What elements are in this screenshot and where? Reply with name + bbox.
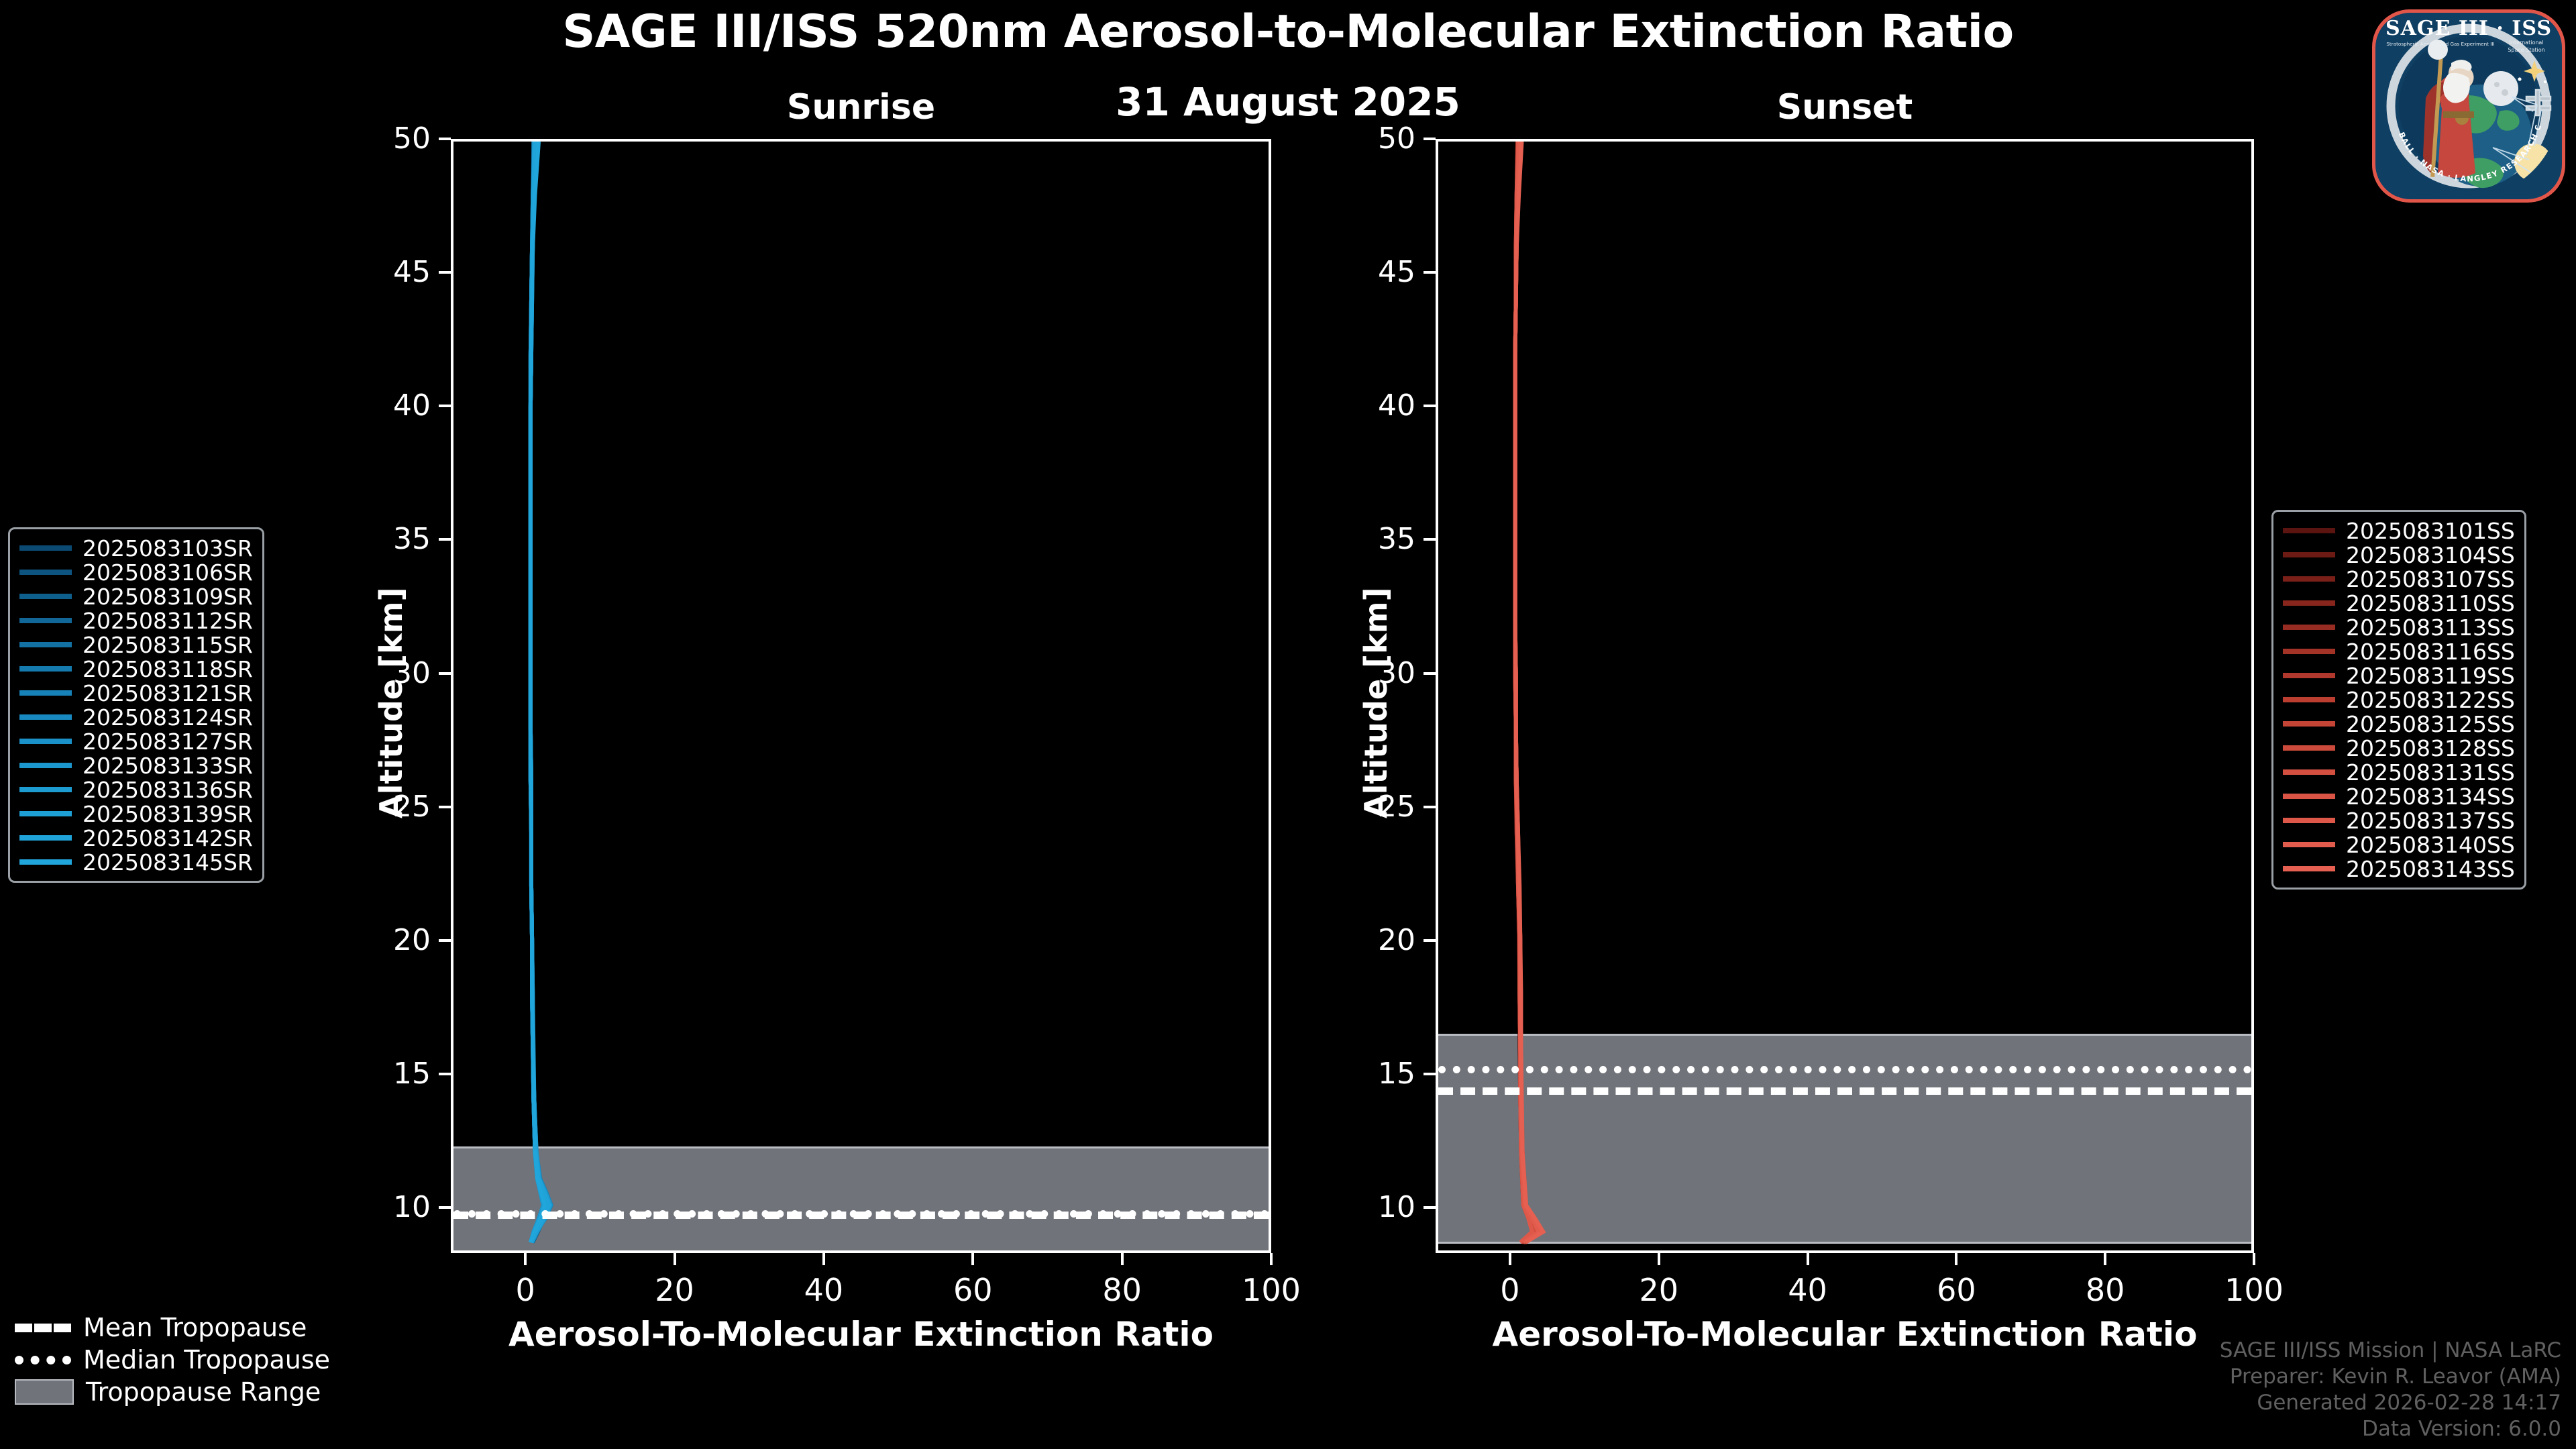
mean-tropopause-line — [1438, 1087, 2251, 1095]
legend-color-swatch — [2283, 697, 2335, 702]
footer-line-generated: Generated 2026-02-28 14:17 — [2220, 1390, 2561, 1416]
sunrise-plot-area[interactable] — [451, 139, 1271, 1253]
y-tick-label: 20 — [393, 926, 431, 955]
x-tick-mark — [1121, 1253, 1124, 1265]
sunrise-y-axis-label: Altitude [km] — [373, 587, 409, 818]
legend-item-label: 2025083127SR — [83, 729, 253, 755]
page-title: SAGE III/ISS 520nm Aerosol-to-Molecular … — [0, 5, 2576, 58]
legend-color-swatch — [2283, 576, 2335, 582]
legend-item[interactable]: 2025083133SR — [19, 753, 253, 777]
y-tick-mark — [1424, 672, 1436, 675]
legend-item[interactable]: 2025083118SR — [19, 657, 253, 681]
tropopause-legend[interactable]: Mean TropopauseMedian TropopauseTropopau… — [15, 1311, 330, 1408]
legend-color-swatch — [19, 594, 72, 599]
legend-item[interactable]: 2025083137SS — [2283, 808, 2515, 833]
x-tick-label: 0 — [516, 1272, 535, 1308]
legend-color-swatch — [19, 570, 72, 575]
legend-color-swatch — [19, 763, 72, 768]
y-tick-mark — [1424, 1073, 1436, 1075]
legend-item[interactable]: 2025083109SR — [19, 584, 253, 608]
legend-item[interactable]: 2025083119SS — [2283, 663, 2515, 688]
legend-item[interactable]: 2025083131SS — [2283, 760, 2515, 784]
legend-item[interactable]: 2025083145SR — [19, 850, 253, 874]
legend-color-swatch — [2283, 866, 2335, 871]
legend-item-label: 2025083134SS — [2346, 784, 2515, 810]
dashed-line-swatch — [15, 1324, 71, 1332]
legend-item-label: 2025083128SS — [2346, 735, 2515, 761]
svg-text:SAGE III · ISS: SAGE III · ISS — [2385, 17, 2552, 40]
legend-item[interactable]: 2025083110SS — [2283, 591, 2515, 615]
x-tick-mark — [1270, 1253, 1273, 1265]
legend-item[interactable]: 2025083127SR — [19, 729, 253, 753]
x-tick-label: 40 — [1788, 1272, 1827, 1308]
legend-color-swatch — [19, 690, 72, 696]
legend-item-label: 2025083109SR — [83, 584, 253, 610]
sunrise-x-axis-label: Aerosol-To-Molecular Extinction Ratio — [451, 1315, 1271, 1354]
legend-color-swatch — [2283, 818, 2335, 823]
legend-item-label: 2025083133SR — [83, 753, 253, 779]
legend-item[interactable]: 2025083122SS — [2283, 688, 2515, 712]
legend-color-swatch — [2283, 600, 2335, 606]
series-line — [531, 142, 545, 1242]
tropopause-legend-item[interactable]: Mean Tropopause — [15, 1311, 330, 1344]
legend-item[interactable]: 2025083128SS — [2283, 736, 2515, 760]
series-lines — [453, 142, 1269, 1250]
y-tick-label: 10 — [1378, 1193, 1415, 1222]
x-tick-label: 20 — [655, 1272, 694, 1308]
x-tick-mark — [1955, 1253, 1957, 1265]
legend-item-label: 2025083118SR — [83, 656, 253, 682]
legend-item-label: 2025083103SR — [83, 535, 253, 561]
legend-item[interactable]: 2025083125SS — [2283, 712, 2515, 736]
legend-item-label: 2025083104SS — [2346, 542, 2515, 568]
legend-item[interactable]: 2025083113SS — [2283, 615, 2515, 639]
tropopause-legend-item[interactable]: Median Tropopause — [15, 1344, 330, 1376]
legend-item[interactable]: 2025083112SR — [19, 608, 253, 633]
y-tick-mark — [1424, 405, 1436, 407]
x-tick-mark — [2104, 1253, 2106, 1265]
legend-color-swatch — [2283, 769, 2335, 775]
legend-color-swatch — [19, 545, 72, 551]
legend-item-label: 2025083121SR — [83, 680, 253, 706]
sunrise-panel-title: Sunrise — [451, 87, 1271, 127]
legend-color-swatch — [19, 666, 72, 672]
x-tick-label: 80 — [1102, 1272, 1142, 1308]
legend-color-swatch — [2283, 842, 2335, 847]
tropopause-legend-label: Tropopause Range — [86, 1377, 321, 1407]
legend-item-label: 2025083122SS — [2346, 687, 2515, 713]
y-tick-mark — [439, 538, 451, 541]
y-tick-label: 15 — [1378, 1059, 1415, 1089]
y-tick-mark — [439, 271, 451, 274]
legend-item-label: 2025083115SR — [83, 632, 253, 658]
legend-item-label: 2025083106SR — [83, 559, 253, 586]
legend-item[interactable]: 2025083103SR — [19, 536, 253, 560]
legend-item-label: 2025083145SR — [83, 849, 253, 875]
x-tick-mark — [1658, 1253, 1660, 1265]
x-tick-label: 100 — [2224, 1272, 2284, 1308]
legend-color-swatch — [2283, 528, 2335, 533]
y-tick-label: 40 — [393, 391, 431, 421]
legend-item[interactable]: 2025083104SS — [2283, 543, 2515, 567]
y-tick-mark — [439, 672, 451, 675]
legend-color-swatch — [2283, 552, 2335, 557]
svg-text:Space Station: Space Station — [2508, 47, 2544, 53]
y-tick-mark — [1424, 939, 1436, 942]
x-tick-label: 60 — [953, 1272, 993, 1308]
y-tick-mark — [439, 1206, 451, 1209]
range-swatch — [15, 1379, 74, 1405]
legend-item[interactable]: 2025083101SS — [2283, 519, 2515, 543]
legend-item-label: 2025083124SR — [83, 704, 253, 731]
x-tick-label: 100 — [1242, 1272, 1301, 1308]
series-lines — [1438, 142, 2251, 1250]
legend-item[interactable]: 2025083121SR — [19, 681, 253, 705]
x-tick-mark — [1807, 1253, 1809, 1265]
y-tick-mark — [439, 939, 451, 942]
tropopause-legend-item[interactable]: Tropopause Range — [15, 1376, 330, 1408]
svg-text:International: International — [2509, 40, 2543, 46]
sunset-panel-title: Sunset — [1436, 87, 2254, 127]
legend-item-label: 2025083139SR — [83, 801, 253, 827]
legend-item-label: 2025083116SS — [2346, 639, 2515, 665]
legend-item-label: 2025083131SS — [2346, 759, 2515, 786]
legend-item-label: 2025083142SR — [83, 825, 253, 851]
y-tick-mark — [1424, 138, 1436, 140]
sage-iii-iss-logo: SAGE III · ISS Stratospheric Aerosol and… — [2368, 4, 2569, 205]
y-tick-mark — [1424, 1206, 1436, 1209]
legend-item[interactable]: 2025083140SS — [2283, 833, 2515, 857]
y-tick-mark — [1424, 806, 1436, 808]
legend-item-label: 2025083112SR — [83, 608, 253, 634]
median-tropopause-line — [1438, 1066, 2251, 1073]
y-tick-mark — [439, 138, 451, 140]
legend-item-label: 2025083101SS — [2346, 518, 2515, 544]
sunset-y-axis-label: Altitude [km] — [1358, 587, 1394, 818]
y-tick-label: 35 — [1378, 525, 1415, 554]
legend-item-label: 2025083119SS — [2346, 663, 2515, 689]
sunset-legend[interactable]: 2025083101SS2025083104SS2025083107SS2025… — [2271, 510, 2526, 890]
footer-line-version: Data Version: 6.0.0 — [2220, 1416, 2561, 1442]
legend-item[interactable]: 2025083134SS — [2283, 784, 2515, 808]
dotted-line-swatch — [15, 1356, 71, 1364]
legend-item-label: 2025083136SR — [83, 777, 253, 803]
y-tick-label: 35 — [393, 525, 431, 554]
y-tick-label: 45 — [393, 258, 431, 287]
legend-item[interactable]: 2025083124SR — [19, 705, 253, 729]
footer-line-mission: SAGE III/ISS Mission | NASA LaRC — [2220, 1338, 2561, 1364]
mean-tropopause-line — [453, 1212, 1269, 1219]
y-tick-mark — [1424, 538, 1436, 541]
x-tick-label: 80 — [2086, 1272, 2125, 1308]
x-tick-mark — [1509, 1253, 1511, 1265]
x-tick-label: 60 — [1937, 1272, 1976, 1308]
sunrise-legend[interactable]: 2025083103SR2025083106SR2025083109SR2025… — [8, 527, 264, 883]
svg-text:Stratospheric Aerosol and Gas: Stratospheric Aerosol and Gas Experiment… — [2386, 41, 2494, 47]
legend-color-swatch — [19, 739, 72, 744]
sunset-plot-area[interactable] — [1436, 139, 2254, 1253]
legend-item[interactable]: 2025083115SR — [19, 633, 253, 657]
y-tick-label: 45 — [1378, 258, 1415, 287]
x-tick-label: 20 — [1639, 1272, 1678, 1308]
y-tick-mark — [439, 405, 451, 407]
tropopause-legend-label: Median Tropopause — [83, 1345, 330, 1375]
legend-color-swatch — [19, 835, 72, 841]
x-tick-mark — [822, 1253, 825, 1265]
legend-color-swatch — [19, 859, 72, 865]
legend-item-label: 2025083107SS — [2346, 566, 2515, 592]
x-tick-mark — [524, 1253, 527, 1265]
series-line — [1515, 142, 1536, 1242]
y-tick-label: 15 — [393, 1059, 431, 1089]
legend-color-swatch — [19, 618, 72, 623]
footer-credits: SAGE III/ISS Mission | NASA LaRC Prepare… — [2220, 1338, 2561, 1442]
legend-color-swatch — [2283, 721, 2335, 727]
y-tick-mark — [439, 806, 451, 808]
legend-color-swatch — [2283, 745, 2335, 751]
x-tick-mark — [2253, 1253, 2255, 1265]
legend-color-swatch — [19, 811, 72, 816]
y-tick-mark — [1424, 271, 1436, 274]
legend-color-swatch — [2283, 649, 2335, 654]
legend-item-label: 2025083125SS — [2346, 711, 2515, 737]
legend-item[interactable]: 2025083136SR — [19, 777, 253, 802]
legend-color-swatch — [2283, 625, 2335, 630]
legend-color-swatch — [19, 642, 72, 647]
x-tick-label: 40 — [804, 1272, 844, 1308]
legend-item[interactable]: 2025083107SS — [2283, 567, 2515, 591]
y-tick-label: 20 — [1378, 926, 1415, 955]
legend-item[interactable]: 2025083143SS — [2283, 857, 2515, 881]
y-tick-label: 50 — [393, 124, 431, 154]
legend-item[interactable]: 2025083139SR — [19, 802, 253, 826]
series-line — [1515, 142, 1534, 1242]
legend-item[interactable]: 2025083116SS — [2283, 639, 2515, 663]
legend-color-swatch — [2283, 673, 2335, 678]
x-tick-label: 0 — [1500, 1272, 1519, 1308]
y-tick-label: 10 — [393, 1193, 431, 1222]
legend-item-label: 2025083113SS — [2346, 614, 2515, 641]
legend-item-label: 2025083140SS — [2346, 832, 2515, 858]
y-tick-mark — [439, 1073, 451, 1075]
y-tick-label: 40 — [1378, 391, 1415, 421]
tropopause-legend-label: Mean Tropopause — [83, 1313, 307, 1342]
y-tick-label: 50 — [1378, 124, 1415, 154]
legend-item[interactable]: 2025083106SR — [19, 560, 253, 584]
sunset-x-axis-label: Aerosol-To-Molecular Extinction Ratio — [1436, 1315, 2254, 1354]
legend-color-swatch — [19, 714, 72, 720]
x-tick-mark — [971, 1253, 974, 1265]
legend-color-swatch — [19, 787, 72, 792]
legend-item-label: 2025083137SS — [2346, 808, 2515, 834]
footer-line-preparer: Preparer: Kevin R. Leavor (AMA) — [2220, 1364, 2561, 1390]
legend-item-label: 2025083143SS — [2346, 856, 2515, 882]
x-tick-mark — [674, 1253, 676, 1265]
legend-item[interactable]: 2025083142SR — [19, 826, 253, 850]
legend-color-swatch — [2283, 794, 2335, 799]
legend-item-label: 2025083110SS — [2346, 590, 2515, 616]
